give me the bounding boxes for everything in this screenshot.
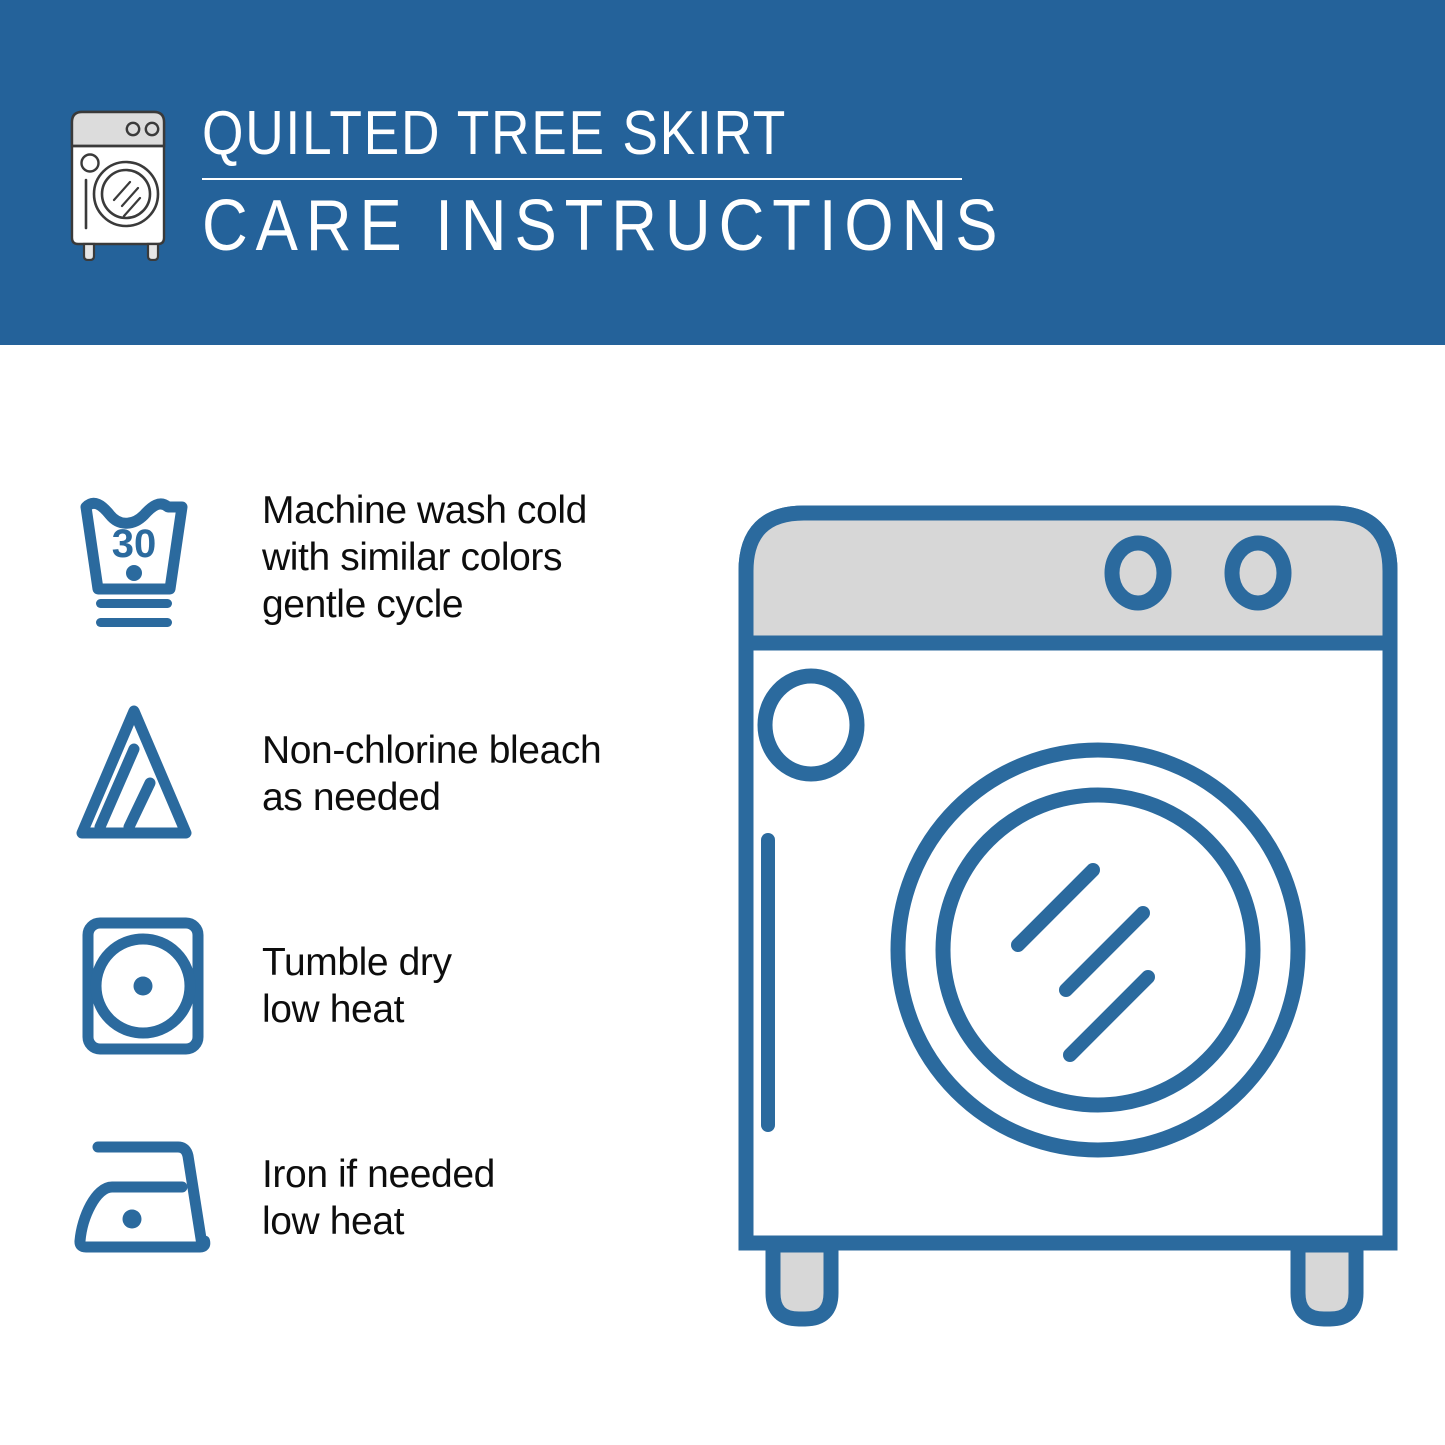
page-header: QUILTED TREE SKIRT CARE INSTRUCTIONS (0, 0, 1445, 345)
care-text-tumble-dry: Tumble dry low heat (262, 909, 452, 1033)
care-text-line: with similar colors (262, 534, 587, 581)
care-text-line: gentle cycle (262, 581, 587, 628)
header-content: QUILTED TREE SKIRT CARE INSTRUCTIONS (62, 100, 1115, 266)
care-row-bleach: Non-chlorine bleach as needed (70, 697, 690, 909)
iron-low-heat-icon (70, 1121, 240, 1281)
care-symbol-list: 30 Machine wash cold with similar colors… (70, 485, 690, 1333)
washing-machine-icon (62, 106, 180, 261)
wash-temperature-label: 30 (112, 522, 157, 566)
care-text-machine-wash: Machine wash cold with similar colors ge… (262, 485, 587, 628)
tumble-dry-low-icon (70, 909, 240, 1069)
title-divider (202, 178, 962, 180)
page-content: 30 Machine wash cold with similar colors… (0, 345, 1445, 1445)
header-title-block: QUILTED TREE SKIRT CARE INSTRUCTIONS (202, 100, 1115, 266)
leg-right (1298, 1245, 1356, 1319)
care-row-iron: Iron if needed low heat (70, 1121, 690, 1333)
control-panel (746, 513, 1390, 643)
care-row-tumble-dry: Tumble dry low heat (70, 909, 690, 1121)
wash-tub-30-gentle-icon: 30 (70, 485, 240, 645)
care-text-line: Iron if needed (262, 1151, 495, 1198)
care-text-line: as needed (262, 774, 601, 821)
bleach-triangle-stripes-icon (70, 697, 240, 857)
care-text-line: low heat (262, 1198, 495, 1245)
page-title: QUILTED TREE SKIRT (202, 100, 987, 168)
care-text-line: Tumble dry (262, 939, 452, 986)
care-text-line: low heat (262, 986, 452, 1033)
care-text-bleach: Non-chlorine bleach as needed (262, 697, 601, 821)
care-text-line: Machine wash cold (262, 487, 587, 534)
care-row-machine-wash: 30 Machine wash cold with similar colors… (70, 485, 690, 697)
care-text-iron: Iron if needed low heat (262, 1121, 495, 1245)
care-text-line: Non-chlorine bleach (262, 727, 601, 774)
front-load-washing-machine-illustration (718, 485, 1418, 1385)
leg-left (773, 1245, 831, 1319)
page-subtitle: CARE INSTRUCTIONS (202, 186, 1005, 266)
